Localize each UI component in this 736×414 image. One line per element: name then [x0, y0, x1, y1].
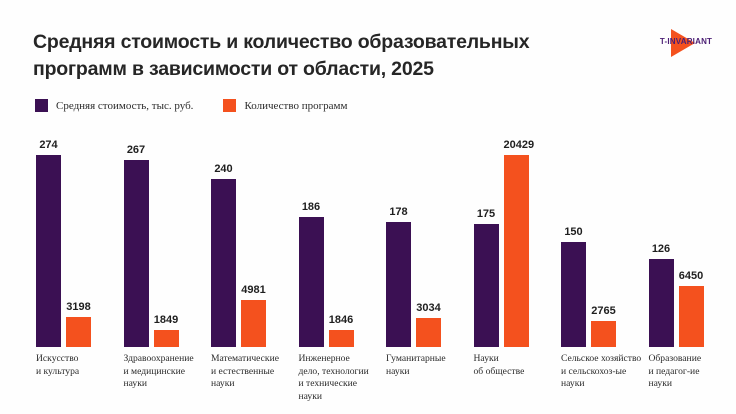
chart-page: Средняя стоимость и количество образоват…	[0, 0, 736, 414]
bar-value-label-cost: 240	[211, 163, 236, 175]
bar-value-label-count: 1849	[154, 314, 179, 326]
bar-count[interactable]	[591, 321, 616, 347]
category-label-line: дело, технологии	[299, 366, 385, 379]
category-label-line: Науки	[474, 353, 560, 366]
category-label-line: Искусство	[36, 353, 122, 366]
bar-cost[interactable]	[299, 217, 324, 347]
category-label-line: и естественные	[211, 366, 297, 379]
bar-cost[interactable]	[124, 160, 149, 347]
bar-value-label-count: 6450	[679, 270, 704, 282]
bar-count[interactable]	[66, 317, 91, 347]
category-label: Сельское хозяйствои сельскохоз-ыенауки	[561, 353, 647, 391]
category-label-line: и педагог-ие	[649, 366, 735, 379]
category-label: Инженерноедело, технологиии техническиен…	[299, 353, 385, 403]
category-label-line: науки	[386, 366, 472, 379]
category-label: Здравоохранениеи медицинскиенауки	[124, 353, 210, 391]
category-label-line: Сельское хозяйство	[561, 353, 647, 366]
bar-cost[interactable]	[211, 179, 236, 347]
category-label-line: науки	[211, 378, 297, 391]
category-label-line: науки	[561, 378, 647, 391]
category-label-line: и медицинские	[124, 366, 210, 379]
bar-value-label-cost: 175	[474, 208, 499, 220]
bar-value-label-cost: 126	[649, 243, 674, 255]
bar-value-label-cost: 267	[124, 144, 149, 156]
bar-count[interactable]	[416, 318, 441, 347]
bar-cost[interactable]	[36, 155, 61, 347]
bar-count[interactable]	[241, 300, 266, 347]
category-label-line: и культура	[36, 366, 122, 379]
bar-value-label-count: 1846	[329, 314, 354, 326]
category-label-line: Инженерное	[299, 353, 385, 366]
bar-value-label-cost: 274	[36, 139, 61, 151]
bar-cost[interactable]	[561, 242, 586, 347]
bar-cost[interactable]	[474, 224, 499, 347]
category-label-line: науки	[299, 391, 385, 404]
category-label: Искусствои культура	[36, 353, 122, 378]
category-label-line: и сельскохоз-ые	[561, 366, 647, 379]
category-label: Гуманитарныенауки	[386, 353, 472, 378]
category-label: Наукиоб обществе	[474, 353, 560, 378]
bar-value-label-cost: 178	[386, 206, 411, 218]
bar-cost[interactable]	[649, 259, 674, 347]
bar-value-label-count: 20429	[504, 139, 529, 151]
category-label-line: и технические	[299, 378, 385, 391]
category-label-line: об обществе	[474, 366, 560, 379]
bar-value-label-count: 2765	[591, 305, 616, 317]
bar-count[interactable]	[679, 286, 704, 347]
bar-value-label-count: 3198	[66, 301, 91, 313]
bar-value-label-count: 4981	[241, 284, 266, 296]
category-label-line: Образование	[649, 353, 735, 366]
bar-count[interactable]	[329, 330, 354, 347]
bar-cost[interactable]	[386, 222, 411, 347]
bar-value-label-cost: 186	[299, 201, 324, 213]
bar-value-label-count: 3034	[416, 302, 441, 314]
bar-value-label-cost: 150	[561, 226, 586, 238]
category-label-line: Математические	[211, 353, 297, 366]
category-label: Образованиеи педагог-иенауки	[649, 353, 735, 391]
category-label-line: науки	[124, 378, 210, 391]
bar-chart-plot: 2743198Искусствои культура2671849Здравоо…	[0, 0, 736, 414]
bar-count[interactable]	[154, 330, 179, 347]
category-label: Математическиеи естественныенауки	[211, 353, 297, 391]
category-label-line: науки	[649, 378, 735, 391]
category-label-line: Здравоохранение	[124, 353, 210, 366]
bar-count[interactable]	[504, 155, 529, 347]
category-label-line: Гуманитарные	[386, 353, 472, 366]
